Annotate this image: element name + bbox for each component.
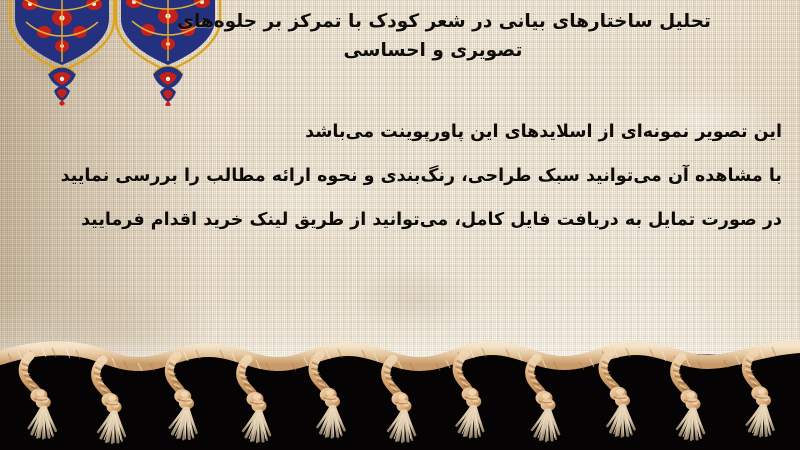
slide-title-line-1: تحلیل ساختارهای بیانی در شعر کودک با تمر…	[104, 8, 784, 37]
slide-body: این تصویر نمونه‌ای از اسلایدهای این پاور…	[18, 110, 782, 242]
slide-text-layer: تحلیل ساختارهای بیانی در شعر کودک با تمر…	[0, 0, 800, 450]
slide-body-line-2: با مشاهده آن می‌توانید سبک طراحی، رنگ‌بن…	[18, 154, 782, 198]
slide-canvas: تحلیل ساختارهای بیانی در شعر کودک با تمر…	[0, 0, 800, 450]
slide-body-line-1: این تصویر نمونه‌ای از اسلایدهای این پاور…	[18, 110, 782, 154]
slide-title: تحلیل ساختارهای بیانی در شعر کودک با تمر…	[104, 8, 784, 65]
slide-title-line-2: تصویری و احساسی	[104, 37, 784, 66]
slide-body-line-3: در صورت تمایل به دریافت فایل کامل، می‌تو…	[18, 198, 782, 242]
